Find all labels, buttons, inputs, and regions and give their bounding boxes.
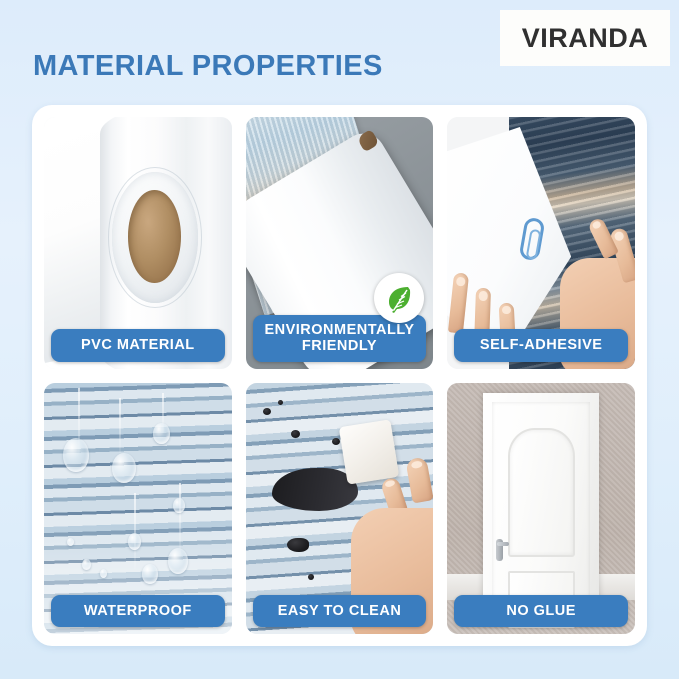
feature-tile-easy-to-clean[interactable]: EASY TO CLEAN [246,383,434,635]
feature-tile-pvc-material[interactable]: PVC MATERIAL [44,117,232,369]
feature-tile-no-glue[interactable]: NO GLUE [447,383,635,635]
feature-tile-waterproof[interactable]: WATERPROOF [44,383,232,635]
leaf-badge [374,273,424,323]
feature-label-pvc-material: PVC MATERIAL [51,329,225,361]
leaf-icon [383,282,415,314]
feature-label-self-adhesive: SELF-ADHESIVE [454,329,628,361]
feature-tile-environmentally-friendly[interactable]: ENVIRONMENTALLY FRIENDLY [246,117,434,369]
feature-label-line-2: FRIENDLY [257,338,423,354]
features-grid: PVC MATERIAL [44,117,635,634]
door-handle-icon [496,539,503,561]
brand-logo-box: VIRANDA [500,10,670,66]
feature-tile-self-adhesive[interactable]: SELF-ADHESIVE [447,117,635,369]
feature-label-line-1: ENVIRONMENTALLY [257,322,423,338]
features-card: PVC MATERIAL [32,105,647,646]
feature-label-waterproof: WATERPROOF [51,595,225,627]
feature-label-no-glue: NO GLUE [454,595,628,627]
page-title: MATERIAL PROPERTIES [33,50,383,83]
feature-label-easy-to-clean: EASY TO CLEAN [253,595,427,627]
brand-logo-text: VIRANDA [522,23,649,54]
